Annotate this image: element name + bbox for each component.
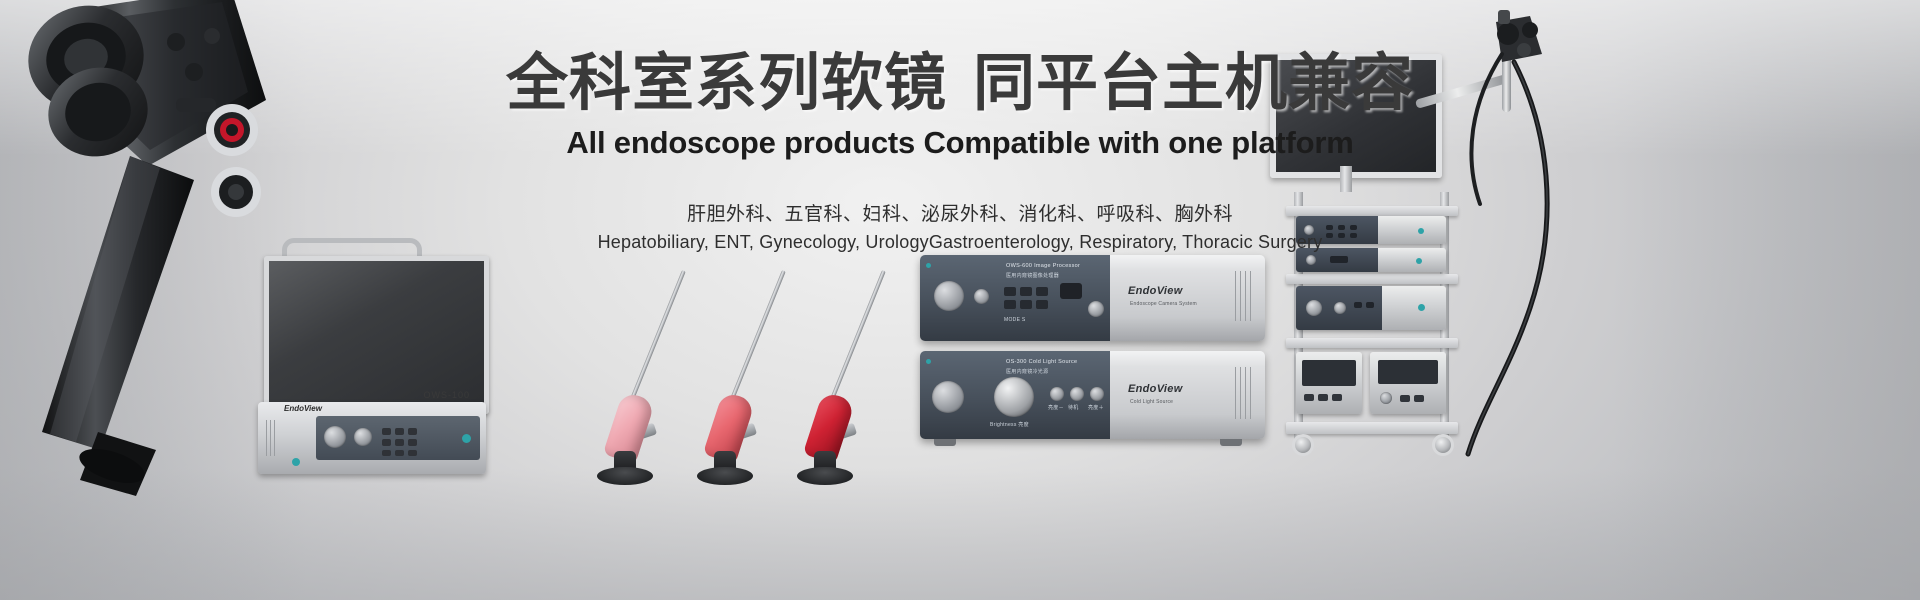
specialties-english: Hepatobiliary, ENT, Gynecology, UrologyG… — [0, 232, 1920, 253]
trolley-unit-4-button[interactable] — [1304, 394, 1314, 401]
trolley-unit-3-button[interactable] — [1366, 302, 1374, 308]
processor-foot-left — [934, 439, 956, 446]
trolley-caster-left — [1292, 434, 1314, 456]
rigid-instrument-red — [710, 255, 880, 490]
image-processor-power-led — [926, 263, 931, 268]
image-processor-vent — [1250, 271, 1251, 321]
workstation-power-indicator — [462, 434, 471, 443]
image-processor-brand-sub: Endoscope Camera System — [1130, 301, 1197, 307]
cold-light-source-btn-label-1: 亮度－ — [1048, 404, 1064, 411]
image-processor-knob-2[interactable] — [974, 289, 989, 304]
workstation-button-5[interactable] — [395, 439, 404, 446]
cold-light-source-button-2[interactable] — [1070, 387, 1084, 401]
image-processor-knob-3[interactable] — [1088, 301, 1104, 317]
image-processor-model-label: OWS-600 Image Processor — [1006, 263, 1080, 269]
trolley-unit-3-knob[interactable] — [1306, 300, 1322, 316]
cold-light-source-brightness-knob[interactable] — [994, 377, 1034, 417]
image-processor-footer-label: MODE S — [1004, 317, 1026, 323]
cold-light-source-vent — [1240, 367, 1241, 419]
headline-part-2: 同平台主机兼容 — [973, 49, 1414, 118]
image-processor-button-6[interactable] — [1036, 300, 1048, 309]
trolley-unit-3-knob-2[interactable] — [1334, 302, 1346, 314]
cold-light-source-unit: OS-300 Cold Light Source 医用内窥镜冷光源 亮度－ 待机… — [920, 351, 1265, 439]
cold-light-source-vent — [1245, 367, 1246, 419]
page-title: 全科室系列软镜同平台主机兼容 — [0, 52, 1920, 115]
endoscope-product-banner: 全科室系列软镜同平台主机兼容 All endoscope products Co… — [0, 0, 1920, 600]
image-processor-vent — [1245, 271, 1246, 321]
cold-light-source-power-led — [926, 359, 931, 364]
cold-light-source-cn-label: 医用内窥镜冷光源 — [1006, 368, 1048, 375]
trolley-unit-2-button[interactable] — [1330, 256, 1348, 263]
workstation-button-1[interactable] — [382, 428, 391, 435]
trolley-unit-4-button[interactable] — [1318, 394, 1328, 401]
workstation-button-6[interactable] — [408, 439, 417, 446]
image-processor-button-3[interactable] — [1036, 287, 1048, 296]
workstation-button-8[interactable] — [395, 450, 404, 456]
workstation-button-3[interactable] — [408, 428, 417, 435]
image-processor-unit: OWS-600 Image Processor 医用内窥镜图像处理器 MODE … — [920, 255, 1265, 341]
cold-light-source-button-1[interactable] — [1050, 387, 1064, 401]
image-processor-vent — [1235, 271, 1236, 321]
image-processor-button-5[interactable] — [1020, 300, 1032, 309]
workstation-button-9[interactable] — [408, 450, 417, 456]
specialties-chinese: 肝胆外科、五官科、妇科、泌尿外科、消化科、呼吸科、胸外科 — [0, 199, 1920, 226]
cold-light-source-btn-label-2: 待机 — [1068, 404, 1079, 411]
cold-light-source-vent — [1250, 367, 1251, 419]
processor-foot-right — [1220, 439, 1242, 446]
trolley-unit-5-knob[interactable] — [1380, 392, 1392, 404]
processor-stack: OWS-600 Image Processor 医用内窥镜图像处理器 MODE … — [920, 255, 1270, 455]
workstation-button-4[interactable] — [382, 439, 391, 446]
image-processor-brand: EndoView — [1128, 285, 1183, 297]
trolley-unit-4-display — [1302, 360, 1356, 386]
image-processor-front-panel: OWS-600 Image Processor 医用内窥镜图像处理器 MODE … — [920, 255, 1110, 341]
trolley-unit-4-button[interactable] — [1332, 394, 1342, 401]
image-processor-port[interactable] — [1060, 283, 1082, 299]
subtitle-english: All endoscope products Compatible with o… — [0, 125, 1920, 161]
image-processor-button-4[interactable] — [1004, 300, 1016, 309]
trolley-unit-5-button[interactable] — [1400, 395, 1410, 402]
trolley-unit-3-button[interactable] — [1354, 302, 1362, 308]
cold-light-source-brand: EndoView — [1128, 383, 1183, 395]
workstation-model-label: OWS-100 — [423, 390, 470, 400]
headline-part-1: 全科室系列软镜 — [506, 49, 947, 118]
image-processor-vent — [1240, 271, 1241, 321]
image-processor-button-1[interactable] — [1004, 287, 1016, 296]
instrument-base — [797, 467, 853, 485]
cold-light-source-output-port[interactable] — [932, 381, 964, 413]
cold-light-source-brand-sub: Cold Light Source — [1130, 399, 1173, 405]
cold-light-source-vent — [1235, 367, 1236, 419]
workstation-knob-2[interactable] — [354, 428, 372, 446]
workstation-knob-1[interactable] — [324, 426, 346, 448]
cold-light-source-model-label: OS-300 Cold Light Source — [1006, 359, 1077, 365]
workstation-button-7[interactable] — [382, 450, 391, 456]
cold-light-source-front-panel: OS-300 Cold Light Source 医用内窥镜冷光源 亮度－ 待机… — [920, 351, 1110, 439]
cold-light-source-button-3[interactable] — [1090, 387, 1104, 401]
image-processor-main-knob[interactable] — [934, 281, 964, 311]
trolley-unit-2-knob[interactable] — [1306, 255, 1316, 265]
cold-light-source-btn-label-3: 亮度＋ — [1088, 404, 1104, 411]
cold-light-source-footer-label: Brightness 亮度 — [990, 421, 1029, 428]
trolley-unit-4 — [1296, 352, 1362, 414]
image-processor-button-2[interactable] — [1020, 287, 1032, 296]
image-processor-cn-label: 医用内窥镜图像处理器 — [1006, 272, 1059, 279]
workstation-button-2[interactable] — [395, 428, 404, 435]
banner-text-block: 全科室系列软镜同平台主机兼容 All endoscope products Co… — [0, 52, 1920, 253]
workstation-control-panel — [316, 416, 480, 460]
